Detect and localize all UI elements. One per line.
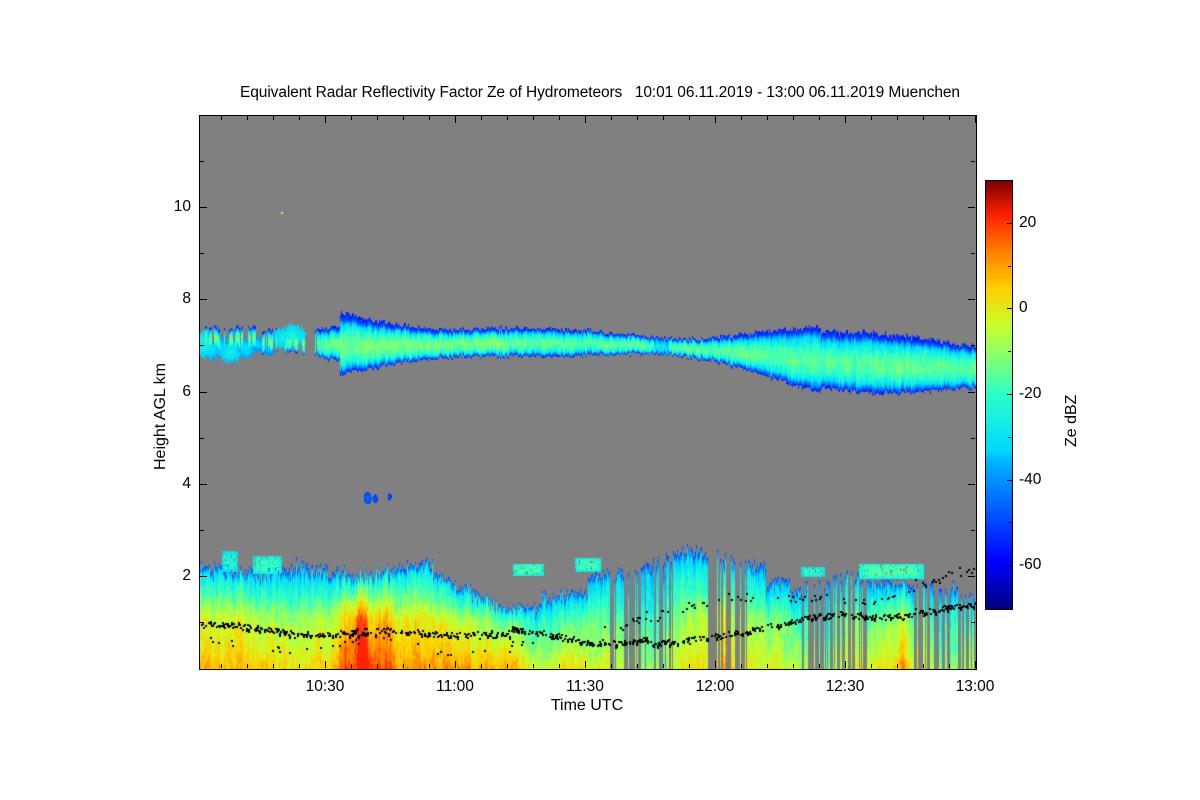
y-tick-major — [200, 207, 207, 208]
x-tick-minor — [299, 664, 300, 668]
x-tick-minor-top — [793, 116, 794, 120]
colorbar-tick-minor — [1008, 437, 1011, 438]
x-tick-minor-top — [351, 116, 352, 120]
x-tick-minor — [897, 664, 898, 668]
y-tick-minor — [200, 161, 204, 162]
x-tick-minor — [403, 664, 404, 668]
x-tick-major — [715, 661, 716, 668]
x-tick-minor — [481, 664, 482, 668]
y-tick-major — [200, 299, 207, 300]
y-tick-minor — [200, 622, 204, 623]
x-tick-label: 13:00 — [956, 678, 995, 696]
y-tick-minor — [200, 438, 204, 439]
colorbar-tick-label: -20 — [1019, 385, 1041, 403]
colorbar-tick — [1007, 223, 1012, 224]
x-tick-major-top — [845, 116, 846, 123]
x-tick-major — [325, 661, 326, 668]
x-tick-minor-top — [247, 116, 248, 120]
y-tick-label: 4 — [147, 475, 191, 493]
x-tick-minor — [949, 664, 950, 668]
colorbar-tick-label: 0 — [1019, 299, 1028, 317]
x-tick-minor-top — [689, 116, 690, 120]
colorbar-tick-minor — [1008, 351, 1011, 352]
y-tick-major — [200, 392, 207, 393]
colorbar-tick-minor — [1008, 522, 1011, 523]
x-tick-major-top — [455, 116, 456, 123]
x-tick-minor — [663, 664, 664, 668]
x-tick-label: 11:30 — [566, 678, 604, 696]
y-tick-minor-right — [971, 622, 975, 623]
x-tick-major — [975, 661, 976, 668]
y-tick-label: 2 — [147, 567, 191, 585]
x-tick-minor — [221, 664, 222, 668]
x-tick-label: 10:30 — [306, 678, 345, 696]
x-tick-label: 11:00 — [436, 678, 474, 696]
x-tick-major-top — [585, 116, 586, 123]
x-tick-minor-top — [949, 116, 950, 120]
x-tick-minor-top — [507, 116, 508, 120]
x-tick-major — [455, 661, 456, 668]
colorbar-label: Ze dBZ — [1063, 395, 1081, 447]
x-tick-minor — [429, 664, 430, 668]
x-tick-minor — [351, 664, 352, 668]
y-tick-major-right — [968, 392, 975, 393]
y-tick-major — [200, 576, 207, 577]
x-tick-minor — [871, 664, 872, 668]
y-tick-minor — [200, 345, 204, 346]
y-tick-minor-right — [971, 161, 975, 162]
y-tick-minor-right — [971, 530, 975, 531]
radar-reflectivity-figure: Equivalent Radar Reflectivity Factor Ze … — [0, 0, 1200, 800]
x-tick-minor-top — [741, 116, 742, 120]
colorbar-gradient-canvas — [986, 181, 1012, 609]
x-tick-minor — [611, 664, 612, 668]
x-tick-minor — [637, 664, 638, 668]
x-tick-minor-top — [273, 116, 274, 120]
x-tick-minor — [923, 664, 924, 668]
y-tick-major-right — [968, 576, 975, 577]
x-tick-minor-top — [871, 116, 872, 120]
x-tick-minor — [793, 664, 794, 668]
x-tick-minor-top — [637, 116, 638, 120]
y-tick-major-right — [968, 299, 975, 300]
y-tick-minor-right — [971, 438, 975, 439]
y-axis-label: Height AGL km — [152, 363, 170, 470]
x-tick-minor-top — [299, 116, 300, 120]
x-axis-label: Time UTC — [199, 697, 975, 715]
y-tick-major-right — [968, 484, 975, 485]
y-tick-minor-right — [971, 345, 975, 346]
x-tick-minor — [689, 664, 690, 668]
colorbar-tick-label: -60 — [1019, 556, 1041, 574]
y-tick-minor-right — [971, 253, 975, 254]
y-tick-major-right — [968, 207, 975, 208]
x-tick-minor-top — [559, 116, 560, 120]
x-tick-minor-top — [221, 116, 222, 120]
plot-area — [199, 115, 977, 670]
x-tick-minor — [741, 664, 742, 668]
x-tick-minor-top — [819, 116, 820, 120]
x-tick-major — [845, 661, 846, 668]
x-tick-minor — [767, 664, 768, 668]
reflectivity-heatmap-canvas — [200, 116, 976, 669]
y-tick-label: 8 — [147, 290, 191, 308]
page-title: Equivalent Radar Reflectivity Factor Ze … — [0, 84, 1200, 102]
y-tick-minor — [200, 253, 204, 254]
y-tick-minor — [200, 530, 204, 531]
x-tick-major-top — [975, 116, 976, 123]
colorbar-tick-minor — [1008, 266, 1011, 267]
x-tick-major-top — [715, 116, 716, 123]
x-tick-major — [585, 661, 586, 668]
colorbar-tick — [1007, 480, 1012, 481]
x-tick-minor-top — [429, 116, 430, 120]
y-tick-label: 10 — [147, 198, 191, 216]
x-tick-minor-top — [403, 116, 404, 120]
x-tick-minor-top — [767, 116, 768, 120]
x-tick-minor-top — [533, 116, 534, 120]
x-tick-minor-top — [923, 116, 924, 120]
x-tick-minor — [819, 664, 820, 668]
x-tick-label: 12:30 — [826, 678, 865, 696]
x-tick-minor — [273, 664, 274, 668]
y-tick-major — [200, 484, 207, 485]
x-tick-minor — [247, 664, 248, 668]
x-tick-minor — [377, 664, 378, 668]
colorbar-tick-label: -40 — [1019, 471, 1041, 489]
x-tick-minor-top — [897, 116, 898, 120]
colorbar-tick — [1007, 308, 1012, 309]
x-tick-minor — [533, 664, 534, 668]
x-tick-minor-top — [611, 116, 612, 120]
colorbar-tick-label: 20 — [1019, 214, 1036, 232]
colorbar-tick — [1007, 565, 1012, 566]
colorbar — [985, 180, 1013, 610]
x-tick-minor-top — [663, 116, 664, 120]
x-tick-label: 12:00 — [696, 678, 735, 696]
x-tick-major-top — [325, 116, 326, 123]
x-tick-minor-top — [481, 116, 482, 120]
x-tick-minor-top — [377, 116, 378, 120]
x-tick-minor — [507, 664, 508, 668]
colorbar-tick — [1007, 394, 1012, 395]
x-tick-minor — [559, 664, 560, 668]
